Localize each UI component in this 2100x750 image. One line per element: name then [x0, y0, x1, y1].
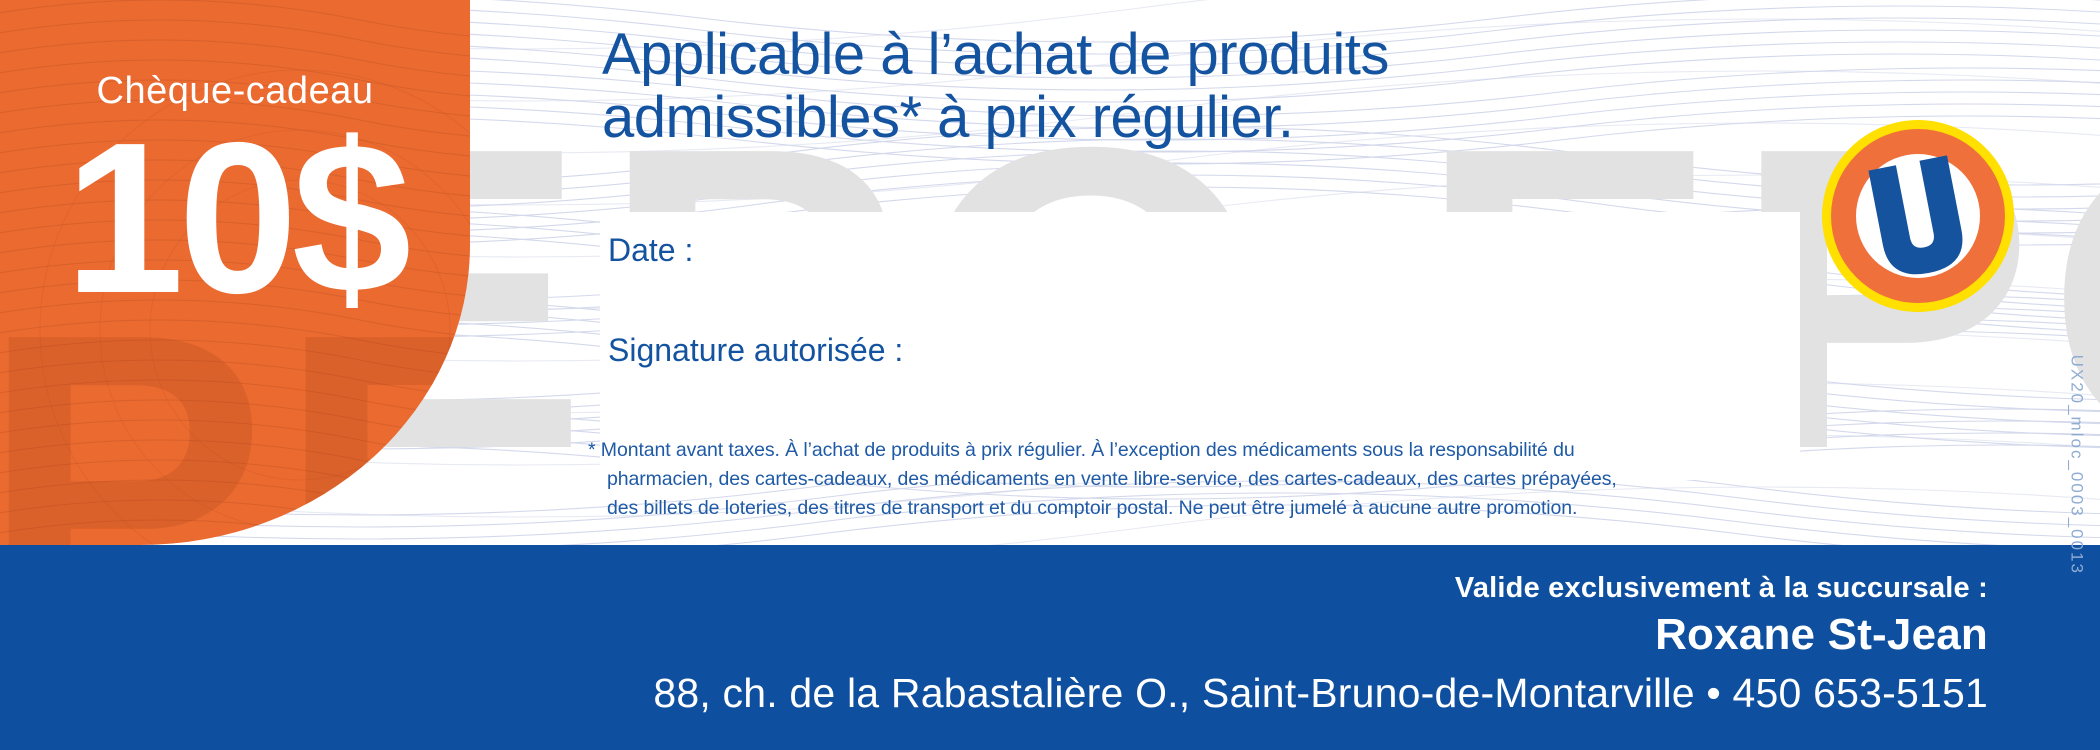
footer-valide-label: Valide exclusivement à la succursale : [1455, 572, 1988, 605]
uniprix-u-logo [1820, 118, 2016, 314]
date-field-label[interactable]: Date : [608, 232, 693, 269]
fine-print-line-3: des billets de loteries, des titres de t… [588, 494, 1718, 523]
headline-line-1: Applicable à l’achat de produits [602, 24, 1782, 87]
headline: Applicable à l’achat de produits admissi… [602, 24, 1782, 149]
fine-print: * Montant avant taxes. À l’achat de prod… [588, 436, 1718, 523]
headline-line-2: admissibles* à prix régulier. [602, 87, 1782, 150]
amount-value: 10$ [50, 110, 420, 325]
footer-reference-code: UX20_mloc_0003_0013 [2066, 355, 2086, 575]
gift-certificate: PEPO EPO PP [0, 0, 2100, 750]
fine-print-line-1: * Montant avant taxes. À l’achat de prod… [588, 436, 1718, 465]
fine-print-line-2: pharmacien, des cartes-cadeaux, des médi… [588, 465, 1718, 494]
signature-field-label[interactable]: Signature autorisée : [608, 332, 903, 369]
footer-bar: Valide exclusivement à la succursale : R… [0, 545, 2100, 750]
footer-branch-name: Roxane St-Jean [1655, 610, 1988, 660]
footer-address: 88, ch. de la Rabastalière O., Saint-Bru… [653, 670, 1988, 717]
